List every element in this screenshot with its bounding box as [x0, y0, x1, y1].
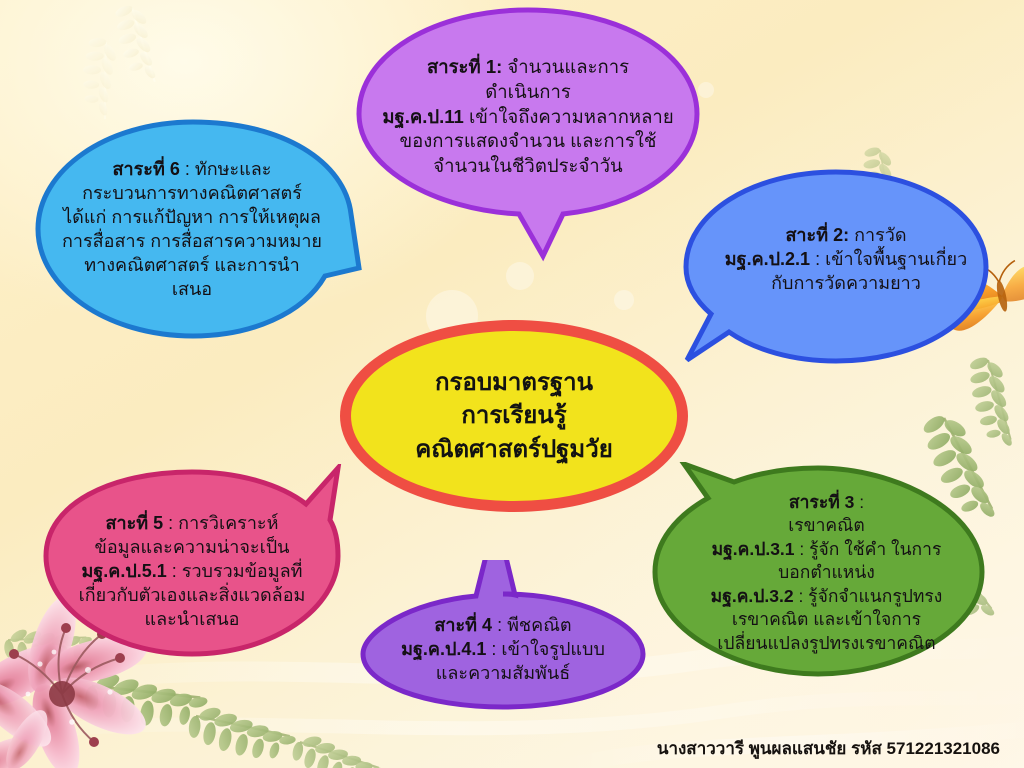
center-line-1: กรอบมาตรฐาน — [415, 366, 613, 399]
standard-code: มฐ.ค.ป.3.1 — [712, 539, 795, 559]
standard-code: มฐ.ค.ป.4.1 — [401, 639, 486, 659]
strand-label: สาระที่ 1: — [427, 56, 502, 77]
speech-bubble-strand-5[interactable]: สาะที่ 5 : การวิเคราะห์ ข้อมูลและความน่า… — [42, 464, 342, 662]
poster-canvas: สาระที่ 1: จำนวนและการ ดำเนินการ มฐ.ค.ป.… — [0, 0, 1024, 768]
speech-bubble-strand-3[interactable]: สาระที่ 3 : เรขาคณิต มฐ.ค.ป.3.1 : รู้จัก… — [650, 462, 987, 680]
speech-bubble-strand-6[interactable]: สาระที่ 6 : ทักษะและ กระบวนการทางคณิตศาส… — [33, 118, 363, 340]
speech-bubble-strand-2[interactable]: สาะที่ 2: การวัด มฐ.ค.ป.2.1 : เข้าใจพื้น… — [681, 168, 991, 366]
strand-label: สาระที่ 6 — [113, 159, 180, 179]
center-line-3: คณิตศาสตร์ปฐมวัย — [415, 433, 613, 466]
speech-bubble-strand-4[interactable]: สาะที่ 4 : พีชคณิต มฐ.ค.ป.4.1 : เข้าใจรู… — [358, 560, 648, 710]
standard-code: มฐ.ค.ป.2.1 — [725, 249, 810, 269]
bubble-text-strand-1: สาระที่ 1: จำนวนและการ ดำเนินการ มฐ.ค.ป.… — [353, 55, 703, 179]
strand-label: สาะที่ 2: — [785, 225, 849, 245]
author-credit: นางสาววารี พูนผลแสนชัย รหัส 571221321086 — [657, 735, 1000, 762]
center-line-2: การเรียนรู้ — [415, 399, 613, 432]
strand-label: สาะที่ 5 — [106, 513, 164, 533]
strand-label: สาระที่ 3 — [789, 492, 854, 512]
bubble-text-strand-2: สาะที่ 2: การวัด มฐ.ค.ป.2.1 : เข้าใจพื้น… — [691, 223, 1001, 295]
bubble-text-strand-4: สาะที่ 4 : พีชคณิต มฐ.ค.ป.4.1 : เข้าใจรู… — [358, 613, 648, 685]
standard-code: มฐ.ค.ป.5.1 — [81, 561, 166, 581]
bubble-text-strand-3: สาระที่ 3 : เรขาคณิต มฐ.ค.ป.3.1 : รู้จัก… — [658, 491, 995, 655]
standard-code: มฐ.ค.ป.3.2 — [711, 586, 794, 606]
bubble-text-strand-6: สาระที่ 6 : ทักษะและ กระบวนการทางคณิตศาส… — [27, 157, 357, 302]
standard-code: มฐ.ค.ป.11 — [382, 106, 464, 127]
strand-label: สาะที่ 4 — [434, 615, 492, 635]
center-topic-text: กรอบมาตรฐาน การเรียนรู้ คณิตศาสตร์ปฐมวัย — [415, 366, 613, 465]
bubble-text-strand-5: สาะที่ 5 : การวิเคราะห์ ข้อมูลและความน่า… — [42, 511, 342, 632]
speech-bubble-strand-1[interactable]: สาระที่ 1: จำนวนและการ ดำเนินการ มฐ.ค.ป.… — [353, 6, 703, 264]
center-topic-ellipse[interactable]: กรอบมาตรฐาน การเรียนรู้ คณิตศาสตร์ปฐมวัย — [340, 320, 688, 512]
